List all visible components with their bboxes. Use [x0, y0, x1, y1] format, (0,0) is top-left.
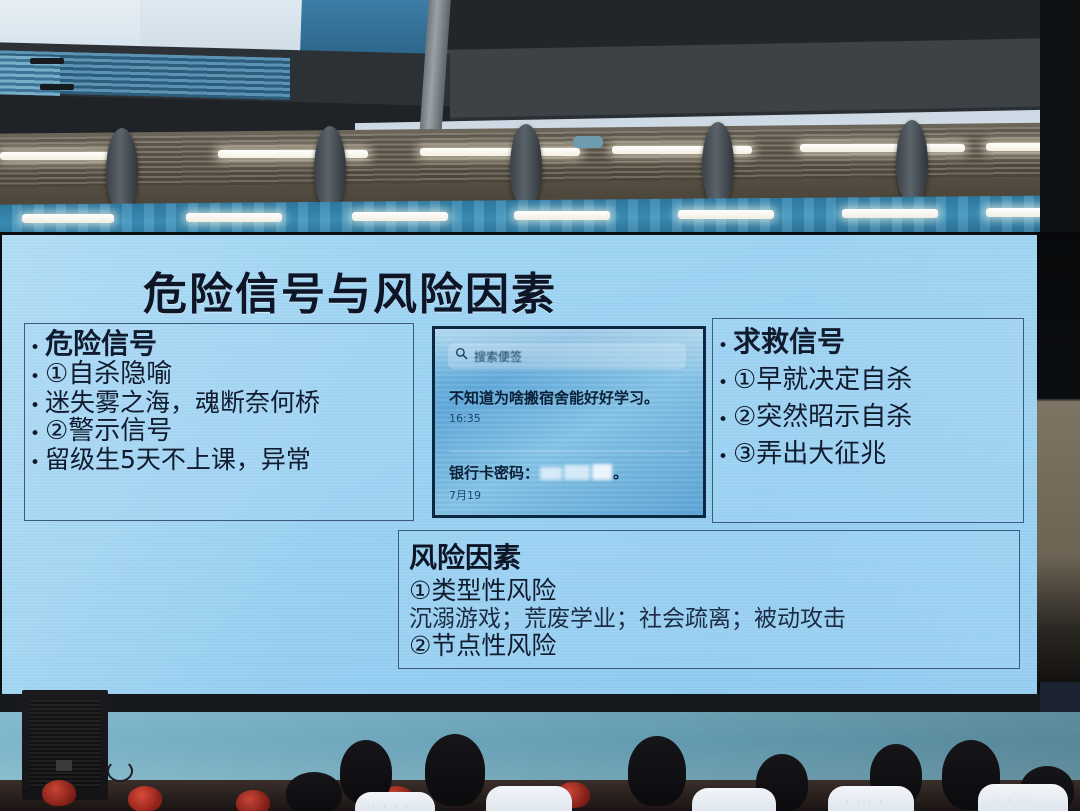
page-title: 危险信号与风险因素: [143, 258, 557, 322]
bullet-icon: •: [25, 398, 45, 415]
help-signals-list: • 求救信号 • ①早就决定自杀 • ②突然昭示自杀 • ③弄出大征兆: [713, 319, 1023, 467]
flower-decoration: [42, 780, 76, 806]
list-item: • ②警示信号: [25, 418, 413, 444]
audience-head: [628, 736, 686, 806]
audience-head: [286, 772, 342, 811]
chair-cover-label: · · · ·: [996, 796, 1035, 805]
panel-tube-light: [678, 210, 774, 219]
ceiling-tube-light: [420, 148, 580, 156]
risk-factors-box: 风险因素 ①类型性风险 沉溺游戏；荒废学业；社会疏离；被动攻击 ②节点性风险: [398, 530, 1020, 669]
flower-decoration: [128, 786, 162, 811]
pa-speaker-badge: [56, 760, 72, 771]
panel-tube-light: [842, 209, 938, 218]
risk-factor-item: ②节点性风险: [409, 632, 1019, 661]
ceiling-tube-light: [0, 152, 120, 160]
pendant-lamp: [314, 126, 346, 212]
list-item-label: ①早就决定自杀: [733, 367, 912, 393]
note-item[interactable]: 银行卡密码：。 7月19: [449, 462, 628, 503]
list-item-label: 留级生5天不上课，异常: [45, 447, 311, 472]
list-item-label: 求救信号: [733, 328, 845, 356]
risk-factors-title: 风险因素: [409, 536, 1019, 576]
chair-cover: [692, 788, 776, 811]
louvre-clip: [30, 58, 64, 64]
note-divider: [449, 451, 689, 452]
danger-signals-box: • 危险信号 • ①自杀隐喻 • 迷失雾之海，魂断奈何桥 • ②警示信号 • 留…: [24, 323, 414, 521]
bullet-icon: •: [713, 412, 733, 429]
ceiling-sensor-box: [573, 136, 603, 148]
risk-factor-item: ①类型性风险: [409, 577, 1019, 606]
bullet-icon: •: [713, 449, 733, 466]
ceiling-tube-light: [800, 144, 965, 152]
note-timestamp: 16:35: [449, 412, 659, 425]
search-input[interactable]: 搜索便签: [448, 343, 686, 369]
pendant-lamp: [702, 122, 734, 208]
search-placeholder-text: 搜索便签: [474, 348, 522, 365]
redaction-block: [564, 465, 590, 480]
panel-tube-light: [514, 211, 610, 220]
list-item-label: 迷失雾之海，魂断奈何桥: [45, 390, 320, 415]
right-wall-upper: [1037, 232, 1080, 552]
panel-tube-light: [22, 214, 114, 223]
pa-speaker-grill: [30, 700, 100, 788]
bullet-icon: •: [25, 340, 45, 357]
list-item: • ②突然昭示自杀: [713, 404, 1023, 430]
list-item-label: ②突然昭示自杀: [733, 404, 912, 430]
bullet-icon: •: [713, 375, 733, 392]
ceiling-tube-light: [218, 150, 368, 158]
louvre-clip: [40, 84, 74, 90]
screenshot-root: 危险信号与风险因素 • 危险信号 • ①自杀隐喻 • 迷失雾之海，魂断奈何桥 •…: [0, 0, 1080, 811]
danger-signals-list: • 危险信号 • ①自杀隐喻 • 迷失雾之海，魂断奈何桥 • ②警示信号 • 留…: [25, 324, 413, 472]
bullet-icon: •: [25, 455, 45, 472]
list-item-label: ①自杀隐喻: [45, 361, 172, 387]
chair-cover: [486, 786, 572, 811]
ceiling-beam-second: [380, 37, 1080, 119]
audience-head: [425, 734, 485, 806]
bullet-icon: •: [25, 426, 45, 443]
list-item: • 留级生5天不上课，异常: [25, 447, 413, 472]
list-item-label: ②警示信号: [45, 418, 172, 444]
mic-stand-ring: [107, 760, 133, 782]
ceiling-area: [0, 0, 1080, 236]
note-text-redacted: 银行卡密码：。: [449, 462, 628, 483]
risk-factor-detail: 沉溺游戏；荒废学业；社会疏离；被动攻击: [409, 606, 1019, 632]
panel-tube-light: [352, 212, 448, 221]
chair-cover-label: · · · ·: [372, 802, 411, 811]
flower-decoration: [236, 790, 270, 811]
note-text-prefix: 银行卡密码：: [449, 464, 539, 482]
help-signals-box: • 求救信号 • ①早就决定自杀 • ②突然昭示自杀 • ③弄出大征兆: [712, 318, 1024, 523]
note-item[interactable]: 不知道为啥搬宿舍能好好学习。 16:35: [449, 387, 659, 425]
note-text-suffix: 。: [613, 464, 628, 482]
search-icon: [455, 347, 468, 365]
list-item: • ①自杀隐喻: [25, 361, 413, 387]
redaction-block: [592, 464, 612, 480]
list-item: • ①早就决定自杀: [713, 367, 1023, 393]
pendant-lamp: [510, 124, 542, 210]
note-timestamp: 7月19: [449, 487, 628, 503]
room-right-dark-corner: [1040, 0, 1080, 236]
list-item: • 求救信号: [713, 328, 1023, 356]
list-item-label: ③弄出大征兆: [733, 441, 886, 467]
bullet-icon: •: [25, 369, 45, 386]
list-item-label: 危险信号: [45, 330, 157, 358]
right-wall-lower: [1037, 552, 1080, 682]
note-text: 不知道为啥搬宿舍能好好学习。: [449, 387, 659, 408]
redaction-block: [540, 467, 562, 480]
chair-cover-label: · · · ·: [846, 798, 885, 807]
bullet-icon: •: [713, 338, 733, 355]
notes-app-screenshot: 搜索便签 不知道为啥搬宿舍能好好学习。 16:35 银行卡密码：。 7月19: [432, 326, 706, 518]
list-item: • 危险信号: [25, 330, 413, 358]
pendant-lamp: [106, 128, 138, 214]
list-item: • ③弄出大征兆: [713, 441, 1023, 467]
list-item: • 迷失雾之海，魂断奈何桥: [25, 390, 413, 415]
pendant-lamp: [896, 120, 928, 206]
panel-tube-light: [186, 213, 282, 222]
